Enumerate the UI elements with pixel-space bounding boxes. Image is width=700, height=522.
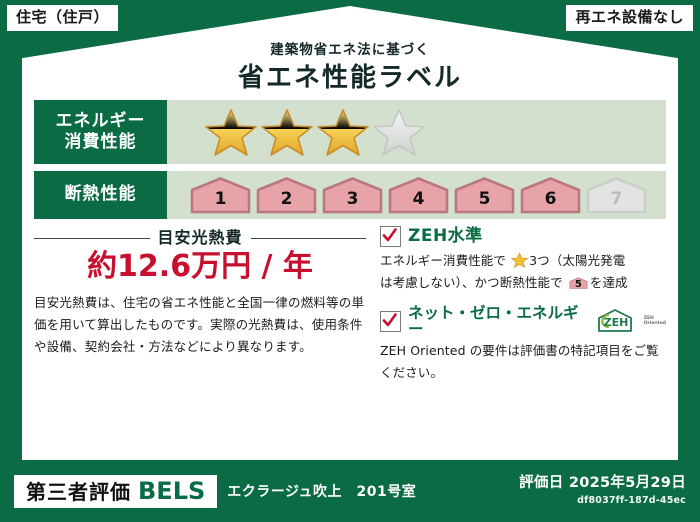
property-name: エクラージュ吹上 201号室	[227, 481, 416, 501]
building-type-badge: 住宅（住戸）	[6, 4, 119, 32]
evaluation-id: df8037ff-187d-45ec	[519, 495, 686, 506]
star-icon-filled-2	[261, 107, 313, 157]
checkbox-net-zero-energy[interactable]	[380, 311, 401, 332]
insulation-house-1: 1	[189, 176, 252, 214]
zeh-logo-sublabel: ZEH Oriented	[644, 317, 666, 327]
zeh-standard-body: エネルギー消費性能で 3つ（太陽光発電 は考慮しない）、かつ断熱性能で 5 を達…	[380, 250, 666, 297]
zeh-standard-block: ZEH水準 エネルギー消費性能で 3つ（太陽光発電 は考慮しない）、かつ断熱性能…	[380, 226, 666, 297]
zeh-sub-line2: Oriented	[644, 321, 666, 326]
evaluation-info: 評価日 2025年5月29日 df8037ff-187d-45ec	[519, 476, 686, 506]
insulation-performance-row: 断熱性能 1234567	[34, 171, 666, 219]
insulation-house-3: 3	[321, 176, 384, 214]
label-footer: 第三者評価 BELS エクラージュ吹上 201号室 評価日 2025年5月29日…	[0, 460, 700, 522]
house-number: 3	[321, 191, 384, 208]
energy-label-line1: エネルギー	[56, 111, 146, 132]
zeh-body-part1: エネルギー消費性能で	[380, 253, 506, 268]
house-number: 2	[255, 191, 318, 208]
lower-section: 目安光熱費 約12.6万円 / 年 目安光熱費は、住宅の省エネ性能と全国一律の燃…	[34, 226, 666, 392]
zeh-body-star-text: 3つ（太陽光発電	[529, 253, 625, 268]
heading-rule-left	[34, 238, 150, 239]
content-area: エネルギー 消費性能	[22, 100, 678, 454]
star-icon-filled-3	[317, 107, 369, 157]
net-zero-energy-header: ネット・ゼロ・エネルギー ZEH ZEH Oriented	[380, 306, 666, 337]
star-icon-empty-4	[373, 107, 425, 157]
energy-performance-label: 住宅（住戸） 再エネ設備なし 建築物省エネ法に基づく 省エネ性能ラベル エネルギ…	[0, 0, 700, 522]
insulation-house-6: 6	[519, 176, 582, 214]
energy-performance-label: エネルギー 消費性能	[34, 100, 167, 164]
utility-cost-heading-text: 目安光熱費	[158, 230, 243, 246]
utility-cost-note: 目安光熱費は、住宅の省エネ性能と全国一律の燃料等の単価を用いて算出したものです。…	[34, 292, 366, 358]
house-icon-number: 5	[569, 280, 588, 290]
title-block: 建築物省エネ法に基づく 省エネ性能ラベル	[22, 44, 678, 91]
bels-jp-text: 第三者評価	[26, 482, 131, 502]
zeh-body-part3: を達成	[590, 275, 628, 290]
page-title: 省エネ性能ラベル	[22, 65, 678, 91]
bels-en-text: BELS	[138, 479, 205, 503]
star-rating	[167, 100, 666, 164]
zeh-logo-icon: ZEH	[595, 307, 635, 337]
check-icon	[382, 228, 397, 243]
star-icon-inline	[511, 252, 528, 268]
net-zero-energy-body: ZEH Oriented の要件は評価書の特記項目をご覧ください。	[380, 340, 666, 383]
utility-cost-amount: 約12.6万円 / 年	[34, 252, 366, 282]
insulation-house-5: 5	[453, 176, 516, 214]
checkbox-zeh-standard[interactable]	[380, 226, 401, 247]
insulation-house-scale: 1234567	[189, 176, 651, 214]
house-number: 5	[453, 191, 516, 208]
bels-badge: 第三者評価 BELS	[14, 475, 217, 508]
evaluation-date: 評価日 2025年5月29日	[519, 476, 686, 492]
house-icon-inline: 5	[569, 275, 588, 298]
insulation-performance-label: 断熱性能	[34, 171, 167, 219]
house-number: 4	[387, 191, 450, 208]
insulation-levels: 1234567	[167, 171, 666, 219]
insulation-label-text: 断熱性能	[65, 184, 137, 205]
house-number: 7	[585, 191, 648, 208]
label-house-panel: 建築物省エネ法に基づく 省エネ性能ラベル エネルギー 消費性能	[22, 6, 678, 460]
energy-performance-row: エネルギー 消費性能	[34, 100, 666, 164]
insulation-house-7: 7	[585, 176, 648, 214]
label-subtitle: 建築物省エネ法に基づく	[22, 44, 678, 58]
utility-cost-heading: 目安光熱費	[34, 230, 366, 246]
zeh-standard-title: ZEH水準	[408, 228, 483, 245]
zeh-standard-header: ZEH水準	[380, 226, 666, 247]
zeh-body-part2: は考慮しない）、かつ断熱性能で	[380, 275, 563, 290]
house-number: 6	[519, 191, 582, 208]
house-number: 1	[189, 191, 252, 208]
svg-text:ZEH: ZEH	[603, 316, 628, 329]
star-icon-filled-1	[205, 107, 257, 157]
check-icon	[382, 313, 397, 328]
renewable-equipment-badge: 再エネ設備なし	[565, 4, 694, 32]
certification-column: ZEH水準 エネルギー消費性能で 3つ（太陽光発電 は考慮しない）、かつ断熱性能…	[372, 226, 666, 392]
heading-rule-right	[251, 238, 367, 239]
net-zero-energy-title: ネット・ゼロ・エネルギー	[408, 306, 586, 337]
insulation-house-2: 2	[255, 176, 318, 214]
net-zero-energy-block: ネット・ゼロ・エネルギー ZEH ZEH Oriented	[380, 306, 666, 383]
energy-label-line2: 消費性能	[65, 132, 137, 153]
insulation-house-4: 4	[387, 176, 450, 214]
utility-cost-column: 目安光熱費 約12.6万円 / 年 目安光熱費は、住宅の省エネ性能と全国一律の燃…	[34, 226, 372, 392]
